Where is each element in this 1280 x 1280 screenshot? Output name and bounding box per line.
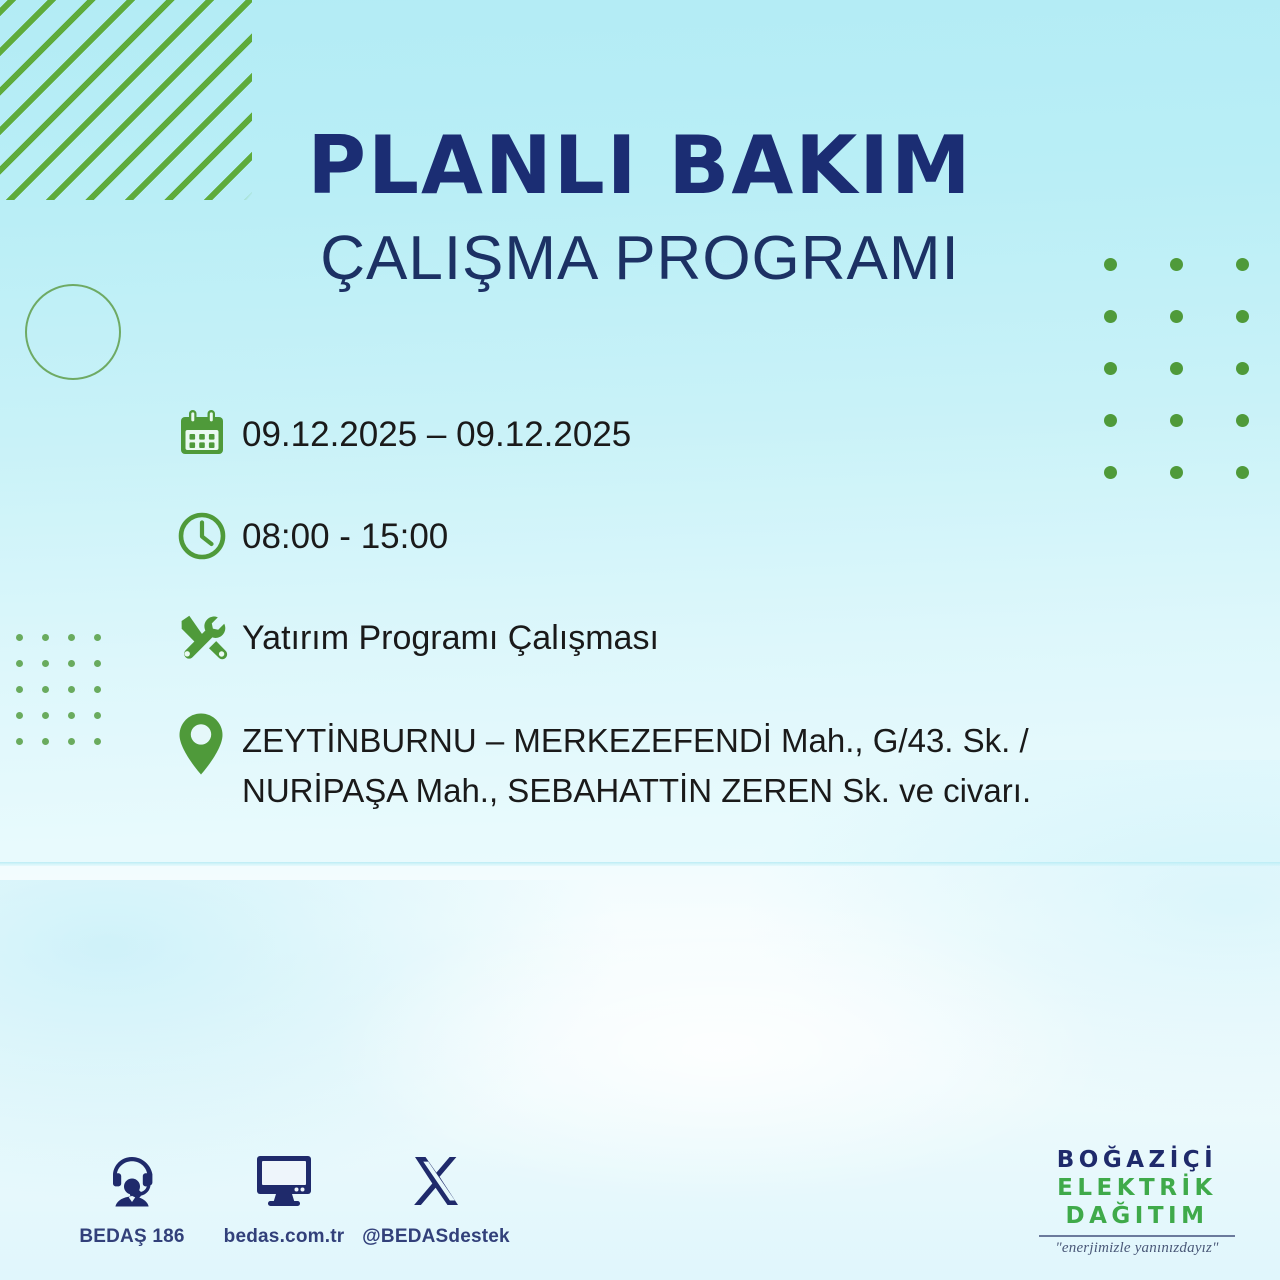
clock-icon — [176, 500, 242, 572]
info-row-time: 08:00 - 15:00 — [176, 500, 1236, 572]
bedas-logo: BOĞAZİÇİ ELEKTRİK DAĞITIM "enerjimizle y… — [1032, 1146, 1242, 1257]
info-row-work-type: Yatırım Programı Çalışması — [176, 602, 1236, 674]
logo-divider — [1039, 1235, 1235, 1237]
logo-line-bogazici: BOĞAZİÇİ — [1032, 1146, 1242, 1174]
contact-website-label: bedas.com.tr — [208, 1226, 360, 1248]
info-row-location: ZEYTİNBURNU – MERKEZEFENDİ Mah., G/43. S… — [176, 704, 1236, 815]
tools-icon — [176, 602, 242, 674]
outage-info-list: 09.12.2025 – 09.12.2025 08:00 - 15:00 — [176, 398, 1236, 815]
contact-phone-label: BEDAŞ 186 — [56, 1226, 208, 1248]
outage-date-range: 09.12.2025 – 09.12.2025 — [242, 398, 631, 460]
outage-location: ZEYTİNBURNU – MERKEZEFENDİ Mah., G/43. S… — [242, 704, 1031, 815]
dot-grid-left-decoration — [16, 634, 116, 744]
info-row-date: 09.12.2025 – 09.12.2025 — [176, 398, 1236, 470]
contact-channels: BEDAŞ 186 bedas.com.tr — [56, 1148, 512, 1248]
page-subtitle: ÇALIŞMA PROGRAMI — [0, 228, 1280, 290]
logo-tagline: "enerjimizle yanınızdayız" — [1032, 1240, 1242, 1257]
poster-header: PLANLI BAKIM ÇALIŞMA PROGRAMI — [0, 126, 1280, 290]
headset-support-icon — [56, 1148, 208, 1214]
planned-maintenance-poster: PLANLI BAKIM ÇALIŞMA PROGRAMI — [0, 0, 1280, 1280]
calendar-icon — [176, 398, 242, 470]
outage-time-range: 08:00 - 15:00 — [242, 500, 448, 562]
logo-line-dagitim: DAĞITIM — [1032, 1202, 1242, 1230]
circle-outline-decoration — [25, 284, 121, 380]
x-social-icon — [360, 1148, 512, 1214]
outage-work-type: Yatırım Programı Çalışması — [242, 602, 659, 662]
contact-social-label: @BEDASdestek — [360, 1226, 512, 1248]
map-pin-icon — [176, 704, 242, 780]
contact-website[interactable]: bedas.com.tr — [208, 1148, 360, 1248]
logo-line-elektrik: ELEKTRİK — [1032, 1174, 1242, 1202]
page-title: PLANLI BAKIM — [0, 126, 1280, 206]
contact-phone[interactable]: BEDAŞ 186 — [56, 1148, 208, 1248]
poster-footer: BEDAŞ 186 bedas.com.tr — [0, 1140, 1280, 1280]
contact-social[interactable]: @BEDASdestek — [360, 1148, 512, 1248]
monitor-website-icon — [208, 1148, 360, 1214]
